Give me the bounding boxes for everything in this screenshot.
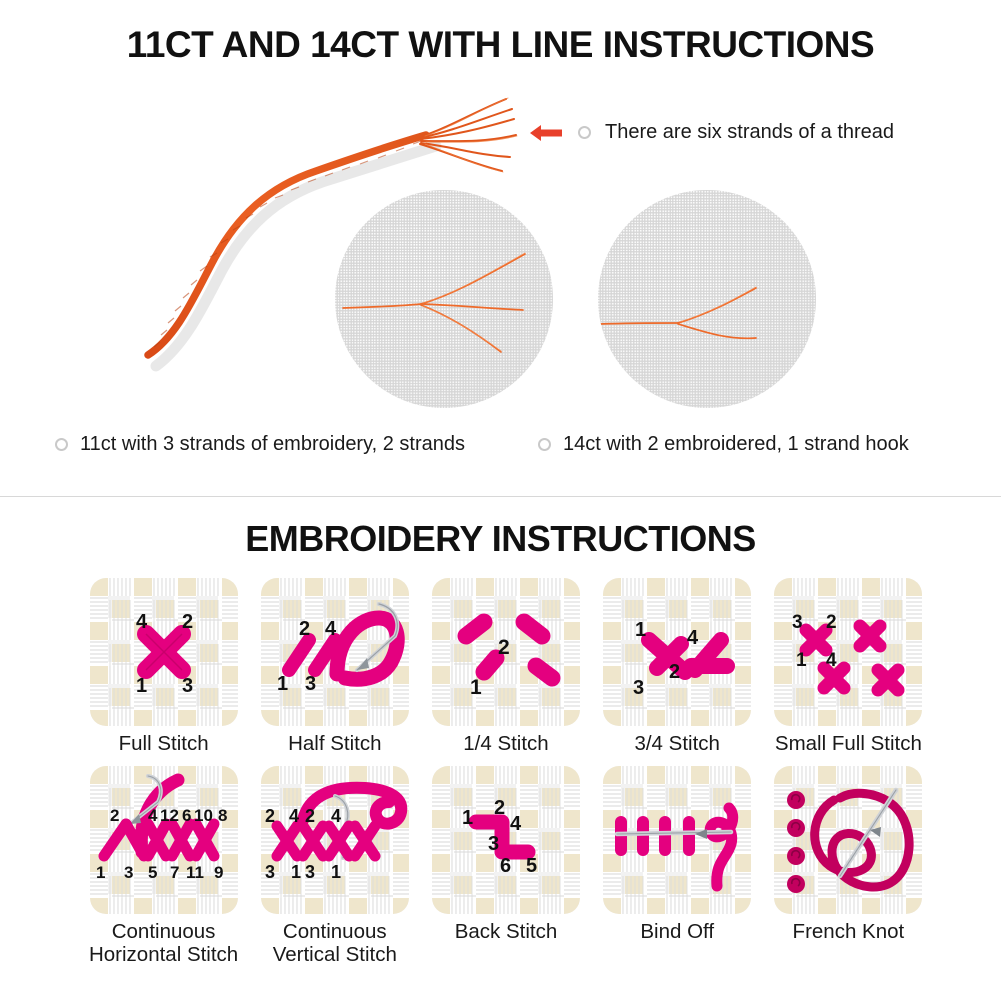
svg-text:3: 3 (305, 673, 316, 695)
svg-text:2: 2 (494, 797, 505, 819)
svg-text:2: 2 (305, 806, 315, 826)
stitch-cell-bind-off: Bind Off (592, 766, 763, 967)
svg-text:3: 3 (305, 862, 315, 882)
stitch-label: French Knot (793, 921, 905, 944)
stitch-label: 3/4 Stitch (634, 733, 719, 756)
svg-text:3: 3 (265, 862, 275, 882)
stitch-diagram-grid: 4 2 1 3 Full Stitch (78, 578, 934, 967)
instruction-sheet: 11CT AND 14CT WITH LINE INSTRUCTIONS (0, 0, 1001, 1001)
fabric-swatch-14ct (598, 190, 816, 408)
svg-text:11: 11 (186, 863, 204, 882)
svg-text:1: 1 (277, 673, 288, 695)
svg-text:4: 4 (331, 806, 341, 826)
stitch-cell-back-stitch: 1 2 4 3 6 5 Back Stitch (420, 766, 591, 967)
bullet-ring-icon (578, 126, 591, 139)
svg-text:5: 5 (526, 855, 537, 877)
caption-14ct: 14ct with 2 embroidered, 1 strand hook (538, 433, 909, 456)
stitch-cell-half-stitch: 2 4 1 3 Half Stitch (249, 578, 420, 756)
stitch-number: 2 (182, 611, 193, 633)
svg-text:3: 3 (792, 612, 803, 633)
stitch-number: 3 (182, 675, 193, 697)
svg-text:2: 2 (110, 806, 119, 825)
stitch-cell-three-quarter-stitch: 1 4 2 3 3/4 Stitch (592, 578, 763, 756)
svg-text:2: 2 (265, 806, 275, 826)
stitch-label: Small Full Stitch (775, 733, 922, 756)
svg-text:12: 12 (160, 806, 179, 825)
fabric-swatch-11ct (335, 190, 553, 408)
svg-text:2: 2 (299, 618, 310, 640)
svg-text:4: 4 (148, 806, 158, 825)
svg-text:6: 6 (182, 806, 191, 825)
svg-text:3: 3 (633, 677, 644, 699)
stitch-label: Back Stitch (455, 921, 558, 944)
svg-text:4: 4 (289, 806, 299, 826)
page-title-ct-instructions: 11CT AND 14CT WITH LINE INSTRUCTIONS (0, 24, 1001, 66)
stitch-tile-french-knot (774, 766, 922, 914)
svg-text:4: 4 (826, 650, 837, 671)
stitch-label: Half Stitch (288, 733, 381, 756)
stitch-tile-quarter-stitch: 2 1 (432, 578, 580, 726)
six-strands-text: There are six strands of a thread (605, 121, 894, 144)
stitch-tile-three-quarter-stitch: 1 4 2 3 (603, 578, 751, 726)
stitch-cell-small-full-stitch: 3 2 1 4 Small Full Stitch (763, 578, 934, 756)
stitch-label: Continuous Horizontal Stitch (89, 921, 238, 967)
svg-text:6: 6 (500, 855, 511, 877)
svg-text:4: 4 (325, 618, 337, 640)
svg-text:1: 1 (462, 807, 473, 829)
stitch-tile-half-stitch: 2 4 1 3 (261, 578, 409, 726)
stitch-label: 1/4 Stitch (463, 733, 548, 756)
stitch-label: Continuous Vertical Stitch (273, 921, 397, 967)
stitch-tile-small-full-stitch: 3 2 1 4 (774, 578, 922, 726)
svg-text:5: 5 (148, 863, 157, 882)
svg-text:2: 2 (669, 661, 680, 683)
svg-text:2: 2 (498, 636, 510, 659)
stitch-cell-full-stitch: 4 2 1 3 Full Stitch (78, 578, 249, 756)
six-strands-annotation: There are six strands of a thread (528, 121, 894, 144)
stitch-number: 4 (136, 611, 148, 633)
left-arrow-icon (528, 123, 564, 143)
svg-text:9: 9 (214, 863, 223, 882)
caption-14ct-text: 14ct with 2 embroidered, 1 strand hook (563, 433, 909, 456)
stitch-tile-continuous-horizontal: 2 4 12 6 10 8 1 3 5 7 11 9 (90, 766, 238, 914)
bullet-ring-icon (538, 438, 551, 451)
stitch-tile-back-stitch: 1 2 4 3 6 5 (432, 766, 580, 914)
stitch-cell-quarter-stitch: 2 1 1/4 Stitch (420, 578, 591, 756)
svg-text:4: 4 (510, 813, 522, 835)
svg-text:3: 3 (488, 833, 499, 855)
bullet-ring-icon (55, 438, 68, 451)
stitch-tile-bind-off (603, 766, 751, 914)
svg-text:3: 3 (124, 863, 133, 882)
stitch-number: 1 (136, 675, 147, 697)
svg-text:1: 1 (470, 676, 482, 699)
stitch-cell-continuous-vertical: 2 4 2 4 3 1 3 1 Continuous Vertical Stit… (249, 766, 420, 967)
stitch-tile-full-stitch: 4 2 1 3 (90, 578, 238, 726)
svg-text:2: 2 (826, 612, 837, 633)
svg-text:10: 10 (194, 806, 213, 825)
caption-11ct-text: 11ct with 3 strands of embroidery, 2 str… (80, 433, 465, 456)
svg-text:7: 7 (170, 863, 179, 882)
stitch-cell-french-knot: French Knot (763, 766, 934, 967)
stitch-tile-continuous-vertical: 2 4 2 4 3 1 3 1 (261, 766, 409, 914)
svg-text:1: 1 (331, 862, 341, 882)
section-divider (0, 496, 1001, 497)
caption-11ct: 11ct with 3 strands of embroidery, 2 str… (55, 433, 465, 456)
svg-text:8: 8 (218, 806, 227, 825)
svg-text:4: 4 (687, 627, 699, 649)
stitch-label: Bind Off (640, 921, 714, 944)
svg-text:1: 1 (96, 863, 105, 882)
svg-text:1: 1 (291, 862, 301, 882)
stitch-cell-continuous-horizontal: 2 4 12 6 10 8 1 3 5 7 11 9 Continuo (78, 766, 249, 967)
svg-text:1: 1 (635, 619, 646, 641)
svg-text:1: 1 (796, 650, 807, 671)
stitch-label: Full Stitch (119, 733, 209, 756)
page-title-embroidery-instructions: EMBROIDERY INSTRUCTIONS (0, 518, 1001, 560)
